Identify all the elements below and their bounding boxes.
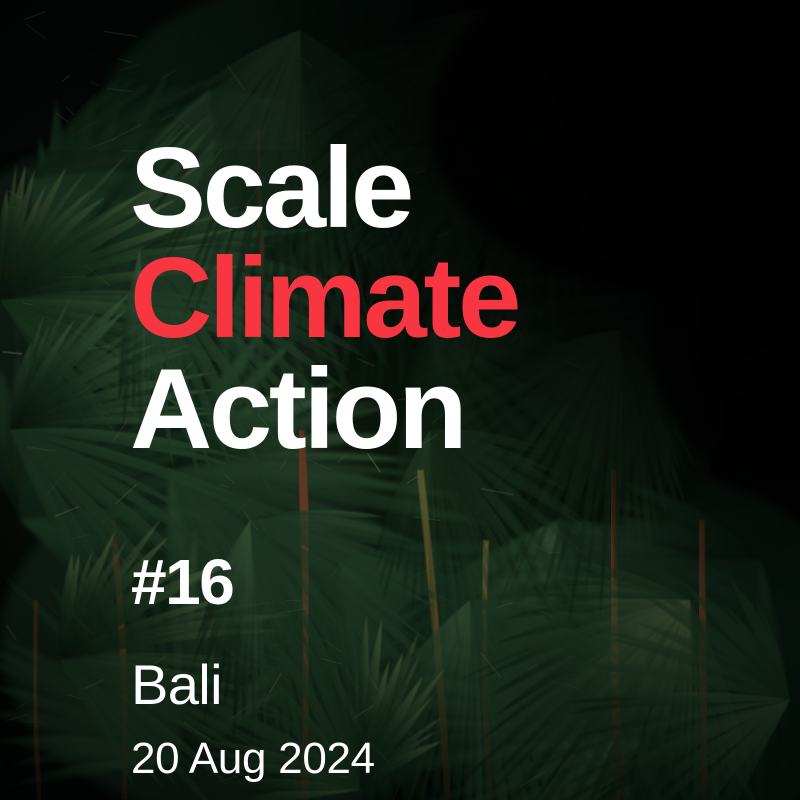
- headline-block: Scale Climate Action: [130, 133, 770, 466]
- event-date: 20 Aug 2024: [131, 737, 375, 781]
- event-meta-block: #16 Bali 20 Aug 2024: [131, 550, 375, 781]
- headline-line-scale: Scale: [130, 133, 770, 245]
- event-edition-number: #16: [131, 550, 375, 614]
- headline-line-action: Action: [130, 354, 770, 466]
- poster-canvas: Scale Climate Action #16 Bali 20 Aug 202…: [0, 0, 800, 800]
- event-location: Bali: [131, 657, 375, 713]
- headline-line-climate: Climate: [130, 243, 770, 355]
